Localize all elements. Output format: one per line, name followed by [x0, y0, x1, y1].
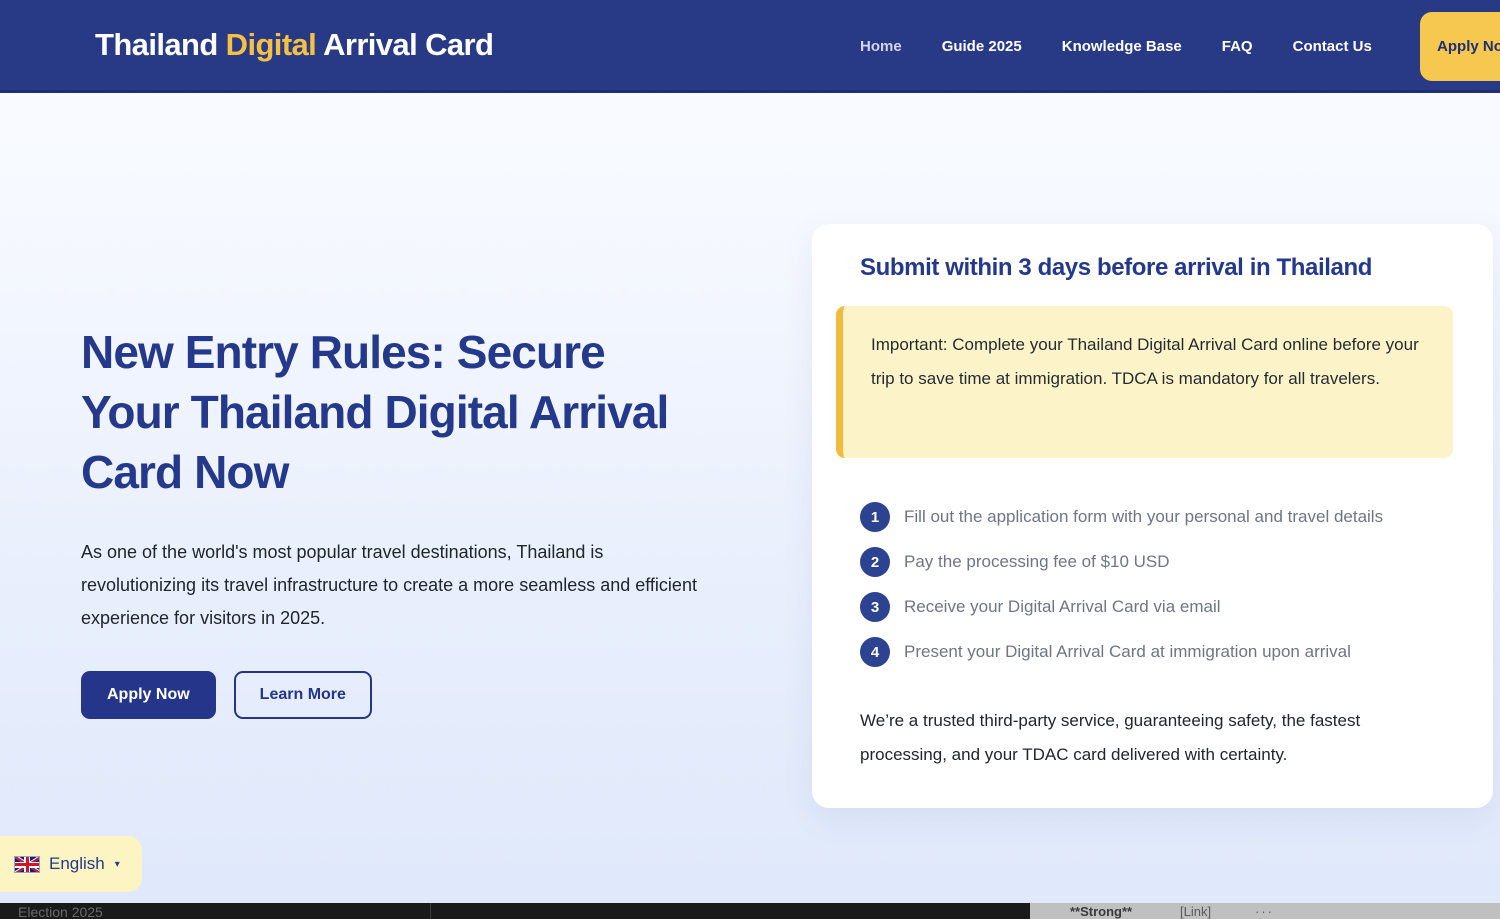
browser-tab-label: Election 2025 [18, 904, 103, 919]
list-item: 3 Receive your Digital Arrival Card via … [860, 592, 1453, 622]
header-apply-now-button[interactable]: Apply Now [1420, 12, 1500, 81]
bottom-os-strip: Election 2025 **Strong** [Link] ··· [0, 903, 1500, 919]
info-card: Submit within 3 days before arrival in T… [812, 224, 1493, 808]
language-selector[interactable]: English ▾ [0, 836, 142, 892]
uk-flag-icon [14, 856, 40, 873]
nav-item-contact-us[interactable]: Contact Us [1273, 38, 1392, 55]
browser-tab-strip[interactable]: Election 2025 [0, 903, 1030, 919]
logo-text-part2: Arrival Card [316, 27, 493, 62]
trust-statement: We’re a trusted third-party service, gua… [836, 704, 1453, 772]
list-item: 4 Present your Digital Arrival Card at i… [860, 637, 1453, 667]
toolbar-link-item[interactable]: [Link] [1180, 904, 1211, 919]
chevron-down-icon: ▾ [115, 859, 120, 870]
list-item: 2 Pay the processing fee of $10 USD [860, 547, 1453, 577]
nav-item-guide-2025[interactable]: Guide 2025 [922, 38, 1042, 55]
nav-item-home[interactable]: Home [840, 38, 922, 55]
hero-subtitle: As one of the world's most popular trave… [81, 536, 721, 635]
step-number-badge: 1 [860, 502, 890, 532]
logo-text-accent: Digital [226, 27, 317, 62]
hero-learn-more-button[interactable]: Learn More [234, 671, 372, 719]
list-item: 1 Fill out the application form with you… [860, 502, 1453, 532]
step-number-badge: 4 [860, 637, 890, 667]
main-navigation: Home Guide 2025 Knowledge Base FAQ Conta… [840, 0, 1500, 93]
important-callout: Important: Complete your Thailand Digita… [836, 306, 1453, 458]
site-header: Thailand Digital Arrival Card Home Guide… [0, 0, 1500, 93]
logo-text-part1: Thailand [95, 27, 226, 62]
step-number-badge: 3 [860, 592, 890, 622]
hero-apply-now-button[interactable]: Apply Now [81, 671, 216, 719]
strip-divider [430, 903, 431, 919]
site-logo[interactable]: Thailand Digital Arrival Card [95, 27, 493, 63]
step-label: Receive your Digital Arrival Card via em… [904, 597, 1221, 617]
hero-section: New Entry Rules: Secure Your Thailand Di… [81, 322, 731, 719]
step-label: Pay the processing fee of $10 USD [904, 552, 1170, 572]
nav-item-faq[interactable]: FAQ [1202, 38, 1273, 55]
language-selector-label: English [49, 854, 105, 874]
step-number-badge: 2 [860, 547, 890, 577]
nav-item-knowledge-base[interactable]: Knowledge Base [1042, 38, 1202, 55]
page-title: New Entry Rules: Secure Your Thailand Di… [81, 322, 701, 502]
steps-list: 1 Fill out the application form with you… [836, 502, 1453, 667]
info-card-title: Submit within 3 days before arrival in T… [836, 254, 1453, 282]
step-label: Fill out the application form with your … [904, 507, 1383, 527]
hero-actions: Apply Now Learn More [81, 671, 731, 719]
toolbar-more-icon[interactable]: ··· [1255, 904, 1274, 919]
toolbar-strong-item[interactable]: **Strong** [1070, 904, 1132, 919]
step-label: Present your Digital Arrival Card at imm… [904, 642, 1351, 662]
important-callout-text: Important: Complete your Thailand Digita… [871, 328, 1427, 396]
editor-toolbar-strip: **Strong** [Link] ··· [1030, 903, 1500, 919]
